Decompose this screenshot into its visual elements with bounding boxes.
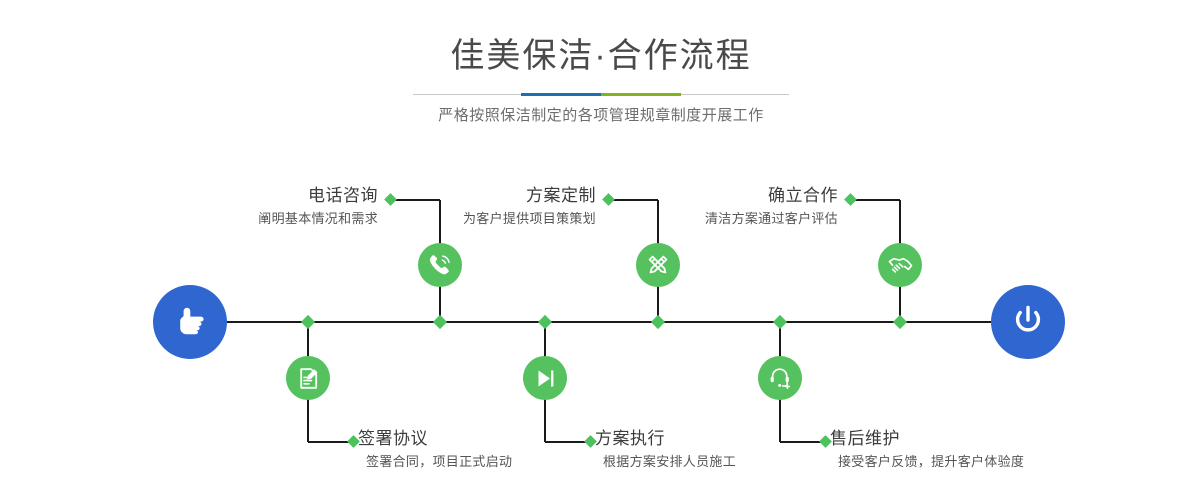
title-divider xyxy=(413,93,789,96)
timeline-end-endpoint xyxy=(991,285,1065,359)
connector-diamond xyxy=(384,193,397,206)
node-title: 售后维护 xyxy=(830,428,1024,450)
power-icon xyxy=(1008,300,1048,345)
axis-marker-diamond xyxy=(433,315,447,329)
node-desc: 为客户提供项目策策划 xyxy=(463,209,596,229)
axis-marker-diamond xyxy=(301,315,315,329)
play-skip-icon xyxy=(523,356,567,400)
node-desc: 签署合同，项目正式启动 xyxy=(358,452,512,472)
connector-horizontal xyxy=(545,441,587,443)
node-title: 方案执行 xyxy=(595,428,736,450)
timeline-start-endpoint xyxy=(153,285,227,359)
node-desc: 接受客户反馈，提升客户体验度 xyxy=(830,452,1024,472)
node-title: 方案定制 xyxy=(463,185,596,207)
node-desc: 阐明基本情况和需求 xyxy=(258,209,378,229)
connector-diamond xyxy=(602,193,615,206)
header: 佳美保洁·合作流程 xyxy=(0,34,1202,78)
page-subtitle: 严格按照保洁制定的各项管理规章制度开展工作 xyxy=(0,105,1202,127)
divider-blue-segment xyxy=(521,93,601,96)
node-desc: 清洁方案通过客户评估 xyxy=(705,209,838,229)
connector-horizontal xyxy=(308,441,350,443)
connector-horizontal xyxy=(609,199,658,201)
node-title: 电话咨询 xyxy=(258,185,378,207)
customer-service-icon xyxy=(758,356,802,400)
node-desc: 根据方案安排人员施工 xyxy=(595,452,736,472)
page-title: 佳美保洁·合作流程 xyxy=(0,34,1202,78)
divider-green-segment xyxy=(601,93,681,96)
axis-marker-diamond xyxy=(773,315,787,329)
node-title: 确立合作 xyxy=(705,185,838,207)
connector-horizontal xyxy=(851,199,900,201)
handshake-icon xyxy=(878,243,922,287)
phone-call-icon xyxy=(418,243,462,287)
pointing-hand-icon xyxy=(169,299,211,346)
pencil-design-icon xyxy=(636,243,680,287)
axis-marker-diamond xyxy=(893,315,907,329)
connector-horizontal xyxy=(391,199,440,201)
axis-marker-diamond xyxy=(651,315,665,329)
flow-diagram-page: 佳美保洁·合作流程 严格按照保洁制定的各项管理规章制度开展工作 xyxy=(0,0,1202,502)
document-edit-icon xyxy=(286,356,330,400)
node-title: 签署协议 xyxy=(358,428,512,450)
connector-diamond xyxy=(844,193,857,206)
connector-horizontal xyxy=(780,441,822,443)
axis-marker-diamond xyxy=(538,315,552,329)
